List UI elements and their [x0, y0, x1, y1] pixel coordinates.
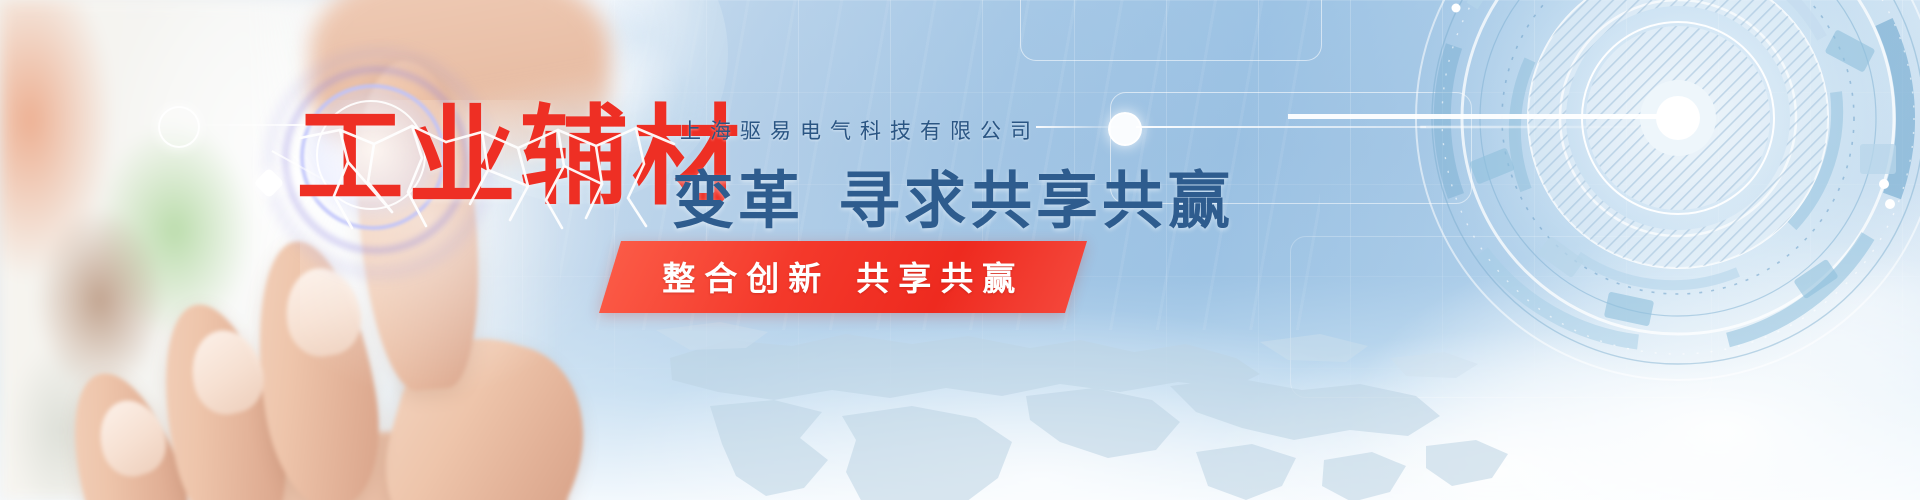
connector-line-4 — [1136, 126, 1426, 128]
company-name: 上海驱易电气科技有限公司 — [680, 115, 1040, 145]
hero-banner: 工业辅材 上海驱易电气科技有限公司 变革寻求共享共赢 — [0, 0, 1920, 500]
tech-hud-circle — [1398, 0, 1920, 456]
tagline-ribbon-text: 整合创新共享共赢 — [662, 252, 1024, 300]
banner-subtitle: 变革寻求共享共赢 — [672, 150, 1234, 240]
subtitle-part-2: 寻求共享共赢 — [838, 164, 1234, 237]
connector-node-left — [158, 106, 200, 148]
hud-outline-rect-1 — [1020, 0, 1322, 61]
tagline-ribbon: 整合创新共享共赢 — [599, 241, 1087, 313]
subtitle-part-1: 变革 — [672, 164, 804, 237]
ribbon-part-2: 共享共赢 — [856, 259, 1024, 298]
connector-node-right — [1108, 112, 1142, 146]
connector-line-1 — [192, 124, 307, 126]
connector-line-5 — [1420, 126, 1650, 128]
ribbon-part-1: 整合创新 — [662, 259, 830, 298]
